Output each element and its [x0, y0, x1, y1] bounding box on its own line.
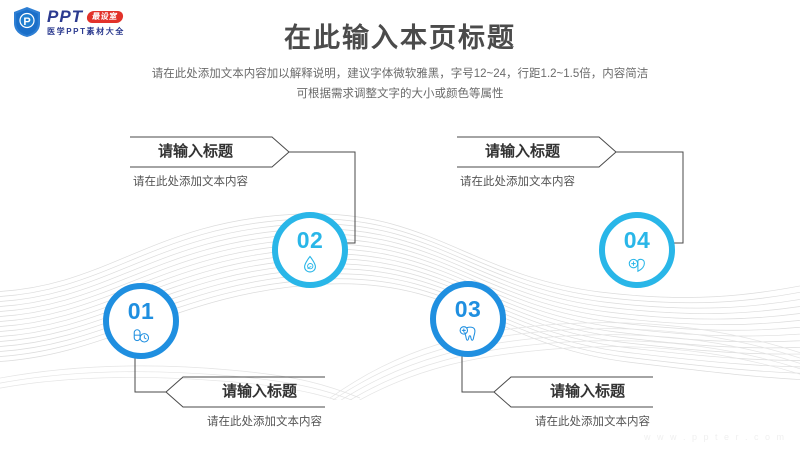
item-desc-03: 请在此处添加文本内容	[493, 413, 653, 429]
item-banner-02: 请输入标题	[130, 136, 290, 168]
item-block-02[interactable]: 请输入标题 请在此处添加文本内容	[130, 136, 290, 189]
slide-canvas: P PPT 最设室 医学PPT素材大全 在此输入本页标题 请在此处添加文本内容加…	[0, 0, 800, 450]
item-number-02: 02	[297, 229, 324, 252]
svg-text:P: P	[23, 16, 30, 28]
item-circle-04[interactable]: 04	[599, 212, 675, 288]
item-circle-01[interactable]: 01	[103, 283, 179, 359]
item-number-01: 01	[128, 300, 155, 323]
subtitle-line-1: 请在此处添加文本内容加以解释说明，建议字体微软雅黑，字号12~24，行距1.2~…	[100, 64, 700, 84]
item-desc-02: 请在此处添加文本内容	[130, 173, 290, 189]
subtitle-line-2: 可根据需求调整文字的大小或颜色等属性	[100, 84, 700, 104]
item-desc-04: 请在此处添加文本内容	[457, 173, 617, 189]
brand-logo[interactable]: P PPT 最设室 医学PPT素材大全	[12, 6, 125, 38]
page-subtitle: 请在此处添加文本内容加以解释说明，建议字体微软雅黑，字号12~24，行距1.2~…	[100, 64, 700, 104]
item-number-03: 03	[455, 298, 482, 321]
logo-brand-text: PPT	[47, 8, 83, 25]
item-banner-01: 请输入标题	[165, 376, 325, 408]
item-block-01[interactable]: 请输入标题 请在此处添加文本内容	[165, 376, 325, 429]
blood-drop-icon	[300, 254, 320, 274]
item-desc-01: 请在此处添加文本内容	[165, 413, 325, 429]
footer-watermark: w w w . p p t e r . c o m	[644, 432, 786, 442]
item-banner-04: 请输入标题	[457, 136, 617, 168]
item-block-04[interactable]: 请输入标题 请在此处添加文本内容	[457, 136, 617, 189]
item-title-01: 请输入标题	[222, 376, 297, 408]
item-number-04: 04	[624, 229, 651, 252]
item-circle-03[interactable]: 03	[430, 281, 506, 357]
item-title-04: 请输入标题	[485, 136, 560, 168]
logo-badge: 最设室	[86, 11, 123, 23]
item-banner-03: 请输入标题	[493, 376, 653, 408]
logo-tagline: 医学PPT素材大全	[47, 28, 125, 36]
shield-logo-icon: P	[12, 6, 42, 38]
tooth-plus-icon	[458, 323, 479, 343]
item-title-03: 请输入标题	[550, 376, 625, 408]
item-circle-02[interactable]: 02	[272, 212, 348, 288]
heart-shield-plus-icon	[627, 254, 648, 274]
item-title-02: 请输入标题	[158, 136, 233, 168]
item-block-03[interactable]: 请输入标题 请在此处添加文本内容	[493, 376, 653, 429]
pill-capsule-icon	[131, 325, 152, 345]
